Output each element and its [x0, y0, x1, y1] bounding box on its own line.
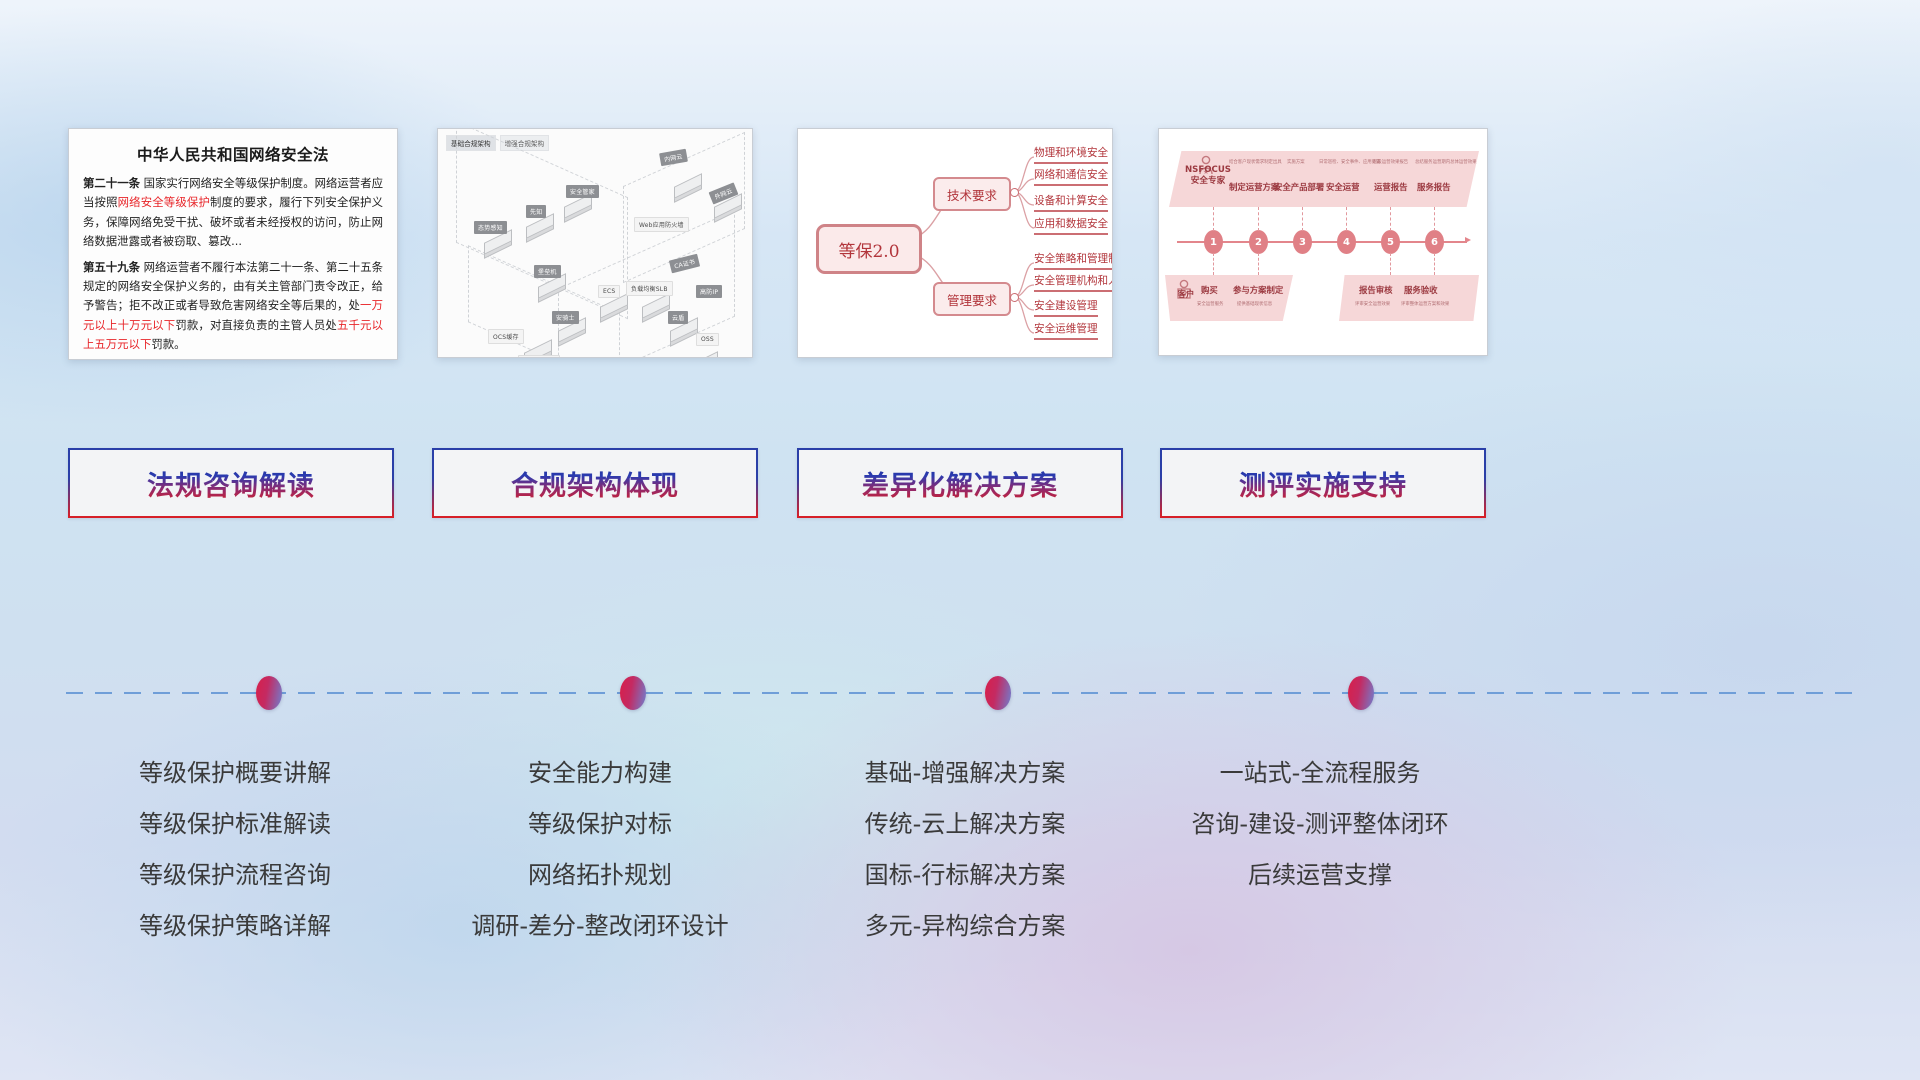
mindmap-leaf: 安全建设管理	[1034, 298, 1098, 317]
article-21-highlight: 网络安全等级保护	[118, 195, 210, 209]
timeline-step-label: 报告审核	[1359, 284, 1393, 296]
list-item: 调研-差分-整改闭环设计	[410, 901, 790, 952]
article-21-label: 第二十一条	[83, 176, 140, 190]
architecture-diagram: 基础合规架构 增强合规架构 内网云 安全管家 先知 态势感知 堡垒机	[438, 129, 752, 357]
list-item: 网络拓扑规划	[410, 850, 790, 901]
arch-node-label: 堡垒机	[534, 265, 561, 278]
section-title-box-1[interactable]: 法规咨询解读	[68, 448, 394, 518]
timeline-connector	[1302, 207, 1304, 231]
timeline-step-sub: 评审整体运营方案和效果	[1401, 301, 1449, 307]
card-cybersecurity-law[interactable]: 中华人民共和国网络安全法 第二十一条 国家实行网络安全等级保护制度。网络运营者应…	[68, 128, 398, 360]
card-compliance-architecture[interactable]: 基础合规架构 增强合规架构 内网云 安全管家 先知 态势感知 堡垒机	[437, 128, 753, 358]
article-59-text-3: 罚款。	[151, 337, 185, 351]
timeline-step-number: 2	[1249, 230, 1268, 254]
mindmap-leaf: 网络和通信安全	[1034, 167, 1108, 186]
device-node	[600, 301, 626, 317]
list-item: 等级保护概要讲解	[45, 748, 425, 799]
mindmap-branch-technical[interactable]: 技术要求	[933, 177, 1011, 211]
mindmap-leaf: 物理和环境安全	[1034, 145, 1108, 164]
mindmap-leaf: 安全策略和管理制度	[1034, 251, 1113, 270]
arch-node-label: 态势感知	[474, 221, 507, 234]
arch-node-label: 负载均衡SLB	[626, 281, 673, 296]
mindmap-collapse-icon[interactable]	[1010, 293, 1019, 302]
feature-list-column-2: 安全能力构建 等级保护对标 网络拓扑规划 调研-差分-整改闭环设计	[410, 748, 790, 952]
mindmap-leaf: 设备和计算安全	[1034, 193, 1108, 212]
timeline-node-3[interactable]	[985, 676, 1011, 710]
mindmap: 等保2.0 技术要求 物理和环境安全 网络和通信安全 设备和计算安全 应用和数据…	[798, 129, 1112, 357]
timeline-step-label: 服务报告	[1417, 181, 1451, 193]
timeline-step-number: 1	[1204, 230, 1223, 254]
service-timeline-diagram: ★ NSFOCUS 安全专家 客户 1 2 3 4 5 6	[1159, 129, 1487, 355]
mindmap-leaf: 安全运维管理	[1034, 321, 1098, 340]
device-node	[538, 281, 564, 297]
list-item: 后续运营支撑	[1130, 850, 1510, 901]
article-59-text-2: 罚款，对直接负责的主管人员处	[175, 318, 337, 332]
arch-node-label: RDS数据库	[518, 355, 560, 358]
section-title-box-3[interactable]: 差异化解决方案	[797, 448, 1123, 518]
list-item: 咨询-建设-测评整体闭环	[1130, 799, 1510, 850]
list-item: 等级保护流程咨询	[45, 850, 425, 901]
section-title-label: 法规咨询解读	[147, 464, 315, 503]
arch-node-label: OCS缓存	[488, 329, 524, 344]
timeline-dashed-line	[66, 692, 1856, 694]
section-title-label: 测评实施支持	[1239, 464, 1407, 503]
timeline-step-label: 制定运营方案	[1229, 181, 1279, 193]
timeline-step-label: 购买	[1201, 284, 1218, 296]
timeline-node-4[interactable]	[1348, 676, 1374, 710]
device-node	[484, 237, 510, 253]
timeline-connector	[1258, 253, 1260, 275]
device-node	[564, 201, 590, 217]
feature-list-column-1: 等级保护概要讲解 等级保护标准解读 等级保护流程咨询 等级保护策略详解	[45, 748, 425, 952]
device-node	[714, 201, 740, 217]
list-item: 传统-云上解决方案	[775, 799, 1155, 850]
arch-node-label: Web应用防火墙	[634, 217, 689, 232]
list-item: 等级保护对标	[410, 799, 790, 850]
law-title: 中华人民共和国网络安全法	[83, 143, 383, 165]
arch-node-label: ECS	[598, 285, 620, 298]
list-item: 多元-异构综合方案	[775, 901, 1155, 952]
timeline-step-sub: 日常巡检、安全事件、应用处置	[1319, 159, 1380, 165]
list-item: 安全能力构建	[410, 748, 790, 799]
timeline-step-sub: 总结服务运营期内总体运营效果	[1415, 159, 1476, 165]
timeline-step-sub: 结合客户现状需求制定出具	[1229, 159, 1282, 165]
timeline-step-label: 运营报告	[1374, 181, 1408, 193]
timeline-connector	[1258, 207, 1260, 231]
timeline-step-sub: 提供基础现状信息	[1237, 301, 1272, 307]
arch-node-label: 先知	[526, 205, 546, 218]
mindmap-branch-management[interactable]: 管理要求	[933, 282, 1011, 316]
mindmap-leaf: 应用和数据安全	[1034, 216, 1108, 235]
timeline-customer-label: 客户	[1169, 289, 1203, 300]
timeline-step-sub: 评审安全运营效果	[1355, 301, 1390, 307]
section-title-box-4[interactable]: 测评实施支持	[1160, 448, 1486, 518]
list-item: 基础-增强解决方案	[775, 748, 1155, 799]
timeline-connector	[1213, 207, 1215, 231]
timeline-step-number: 4	[1337, 230, 1356, 254]
timeline-arrow-icon	[1465, 237, 1471, 243]
timeline-step-number: 3	[1293, 230, 1312, 254]
timeline-step-number: 6	[1425, 230, 1444, 254]
timeline-step-label: 安全产品部署	[1274, 181, 1324, 193]
section-title-label: 合规架构体现	[511, 464, 679, 503]
law-article-21: 第二十一条 国家实行网络安全等级保护制度。网络运营者应当按照网络安全等级保护制度…	[83, 174, 383, 252]
timeline-connector	[1213, 253, 1215, 275]
feature-list-column-3: 基础-增强解决方案 传统-云上解决方案 国标-行标解决方案 多元-异构综合方案	[775, 748, 1155, 952]
list-item: 一站式-全流程服务	[1130, 748, 1510, 799]
list-item: 等级保护标准解读	[45, 799, 425, 850]
card-mindmap-dengbao[interactable]: 等保2.0 技术要求 物理和环境安全 网络和通信安全 设备和计算安全 应用和数据…	[797, 128, 1113, 358]
mindmap-root-node[interactable]: 等保2.0	[816, 224, 922, 274]
timeline-connector	[1346, 207, 1348, 231]
timeline-connector	[1390, 253, 1392, 275]
mindmap-collapse-icon[interactable]	[1010, 188, 1019, 197]
timeline-step-sub: 实施方案	[1287, 159, 1305, 165]
mindmap-leaf: 安全管理机构和人员	[1034, 273, 1113, 292]
list-item: 国标-行标解决方案	[775, 850, 1155, 901]
timeline-step-sub: 阶段运营效果报告	[1373, 159, 1408, 165]
timeline-step-number: 5	[1381, 230, 1400, 254]
timeline-step-label: 服务验收	[1404, 284, 1438, 296]
device-node	[670, 325, 696, 341]
timeline-node-2[interactable]	[620, 676, 646, 710]
timeline-bottom-band-right	[1339, 275, 1479, 321]
timeline-step-label: 安全运营	[1326, 181, 1360, 193]
card-service-timeline[interactable]: ★ NSFOCUS 安全专家 客户 1 2 3 4 5 6	[1158, 128, 1488, 356]
arch-node-label: 云盾	[668, 311, 688, 324]
article-59-label: 第五十九条	[83, 260, 140, 274]
timeline-step-sub: 安全运营服务	[1197, 301, 1223, 307]
device-node	[558, 325, 584, 341]
section-title-box-2[interactable]: 合规架构体现	[432, 448, 758, 518]
section-title-label: 差异化解决方案	[862, 464, 1058, 503]
device-node	[526, 221, 552, 237]
thumbnail-card-row: 中华人民共和国网络安全法 第二十一条 国家实行网络安全等级保护制度。网络运营者应…	[0, 128, 1920, 363]
brand-line-1: NSFOCUS	[1179, 165, 1237, 176]
timeline-connector	[1390, 207, 1392, 231]
timeline-step-label: 参与方案制定	[1233, 284, 1283, 296]
timeline-node-1[interactable]	[256, 676, 282, 710]
arch-node-label: 高防IP	[696, 285, 722, 298]
timeline-connector	[1434, 207, 1436, 231]
section-title-row: 法规咨询解读 合规架构体现 差异化解决方案 测评实施支持	[0, 448, 1920, 520]
timeline-connector	[1434, 253, 1436, 275]
arch-node-label: 安全管家	[566, 185, 599, 198]
arch-node-label: 安骑士	[552, 311, 579, 324]
device-node	[674, 181, 700, 197]
device-node	[642, 301, 668, 317]
feature-list-column-4: 一站式-全流程服务 咨询-建设-测评整体闭环 后续运营支撑	[1130, 748, 1510, 901]
arch-node-label: OSS	[696, 333, 719, 346]
law-article-59: 第五十九条 网络运营者不履行本法第二十一条、第二十五条规定的网络安全保护义务的，…	[83, 258, 383, 355]
list-item: 等级保护策略详解	[45, 901, 425, 952]
